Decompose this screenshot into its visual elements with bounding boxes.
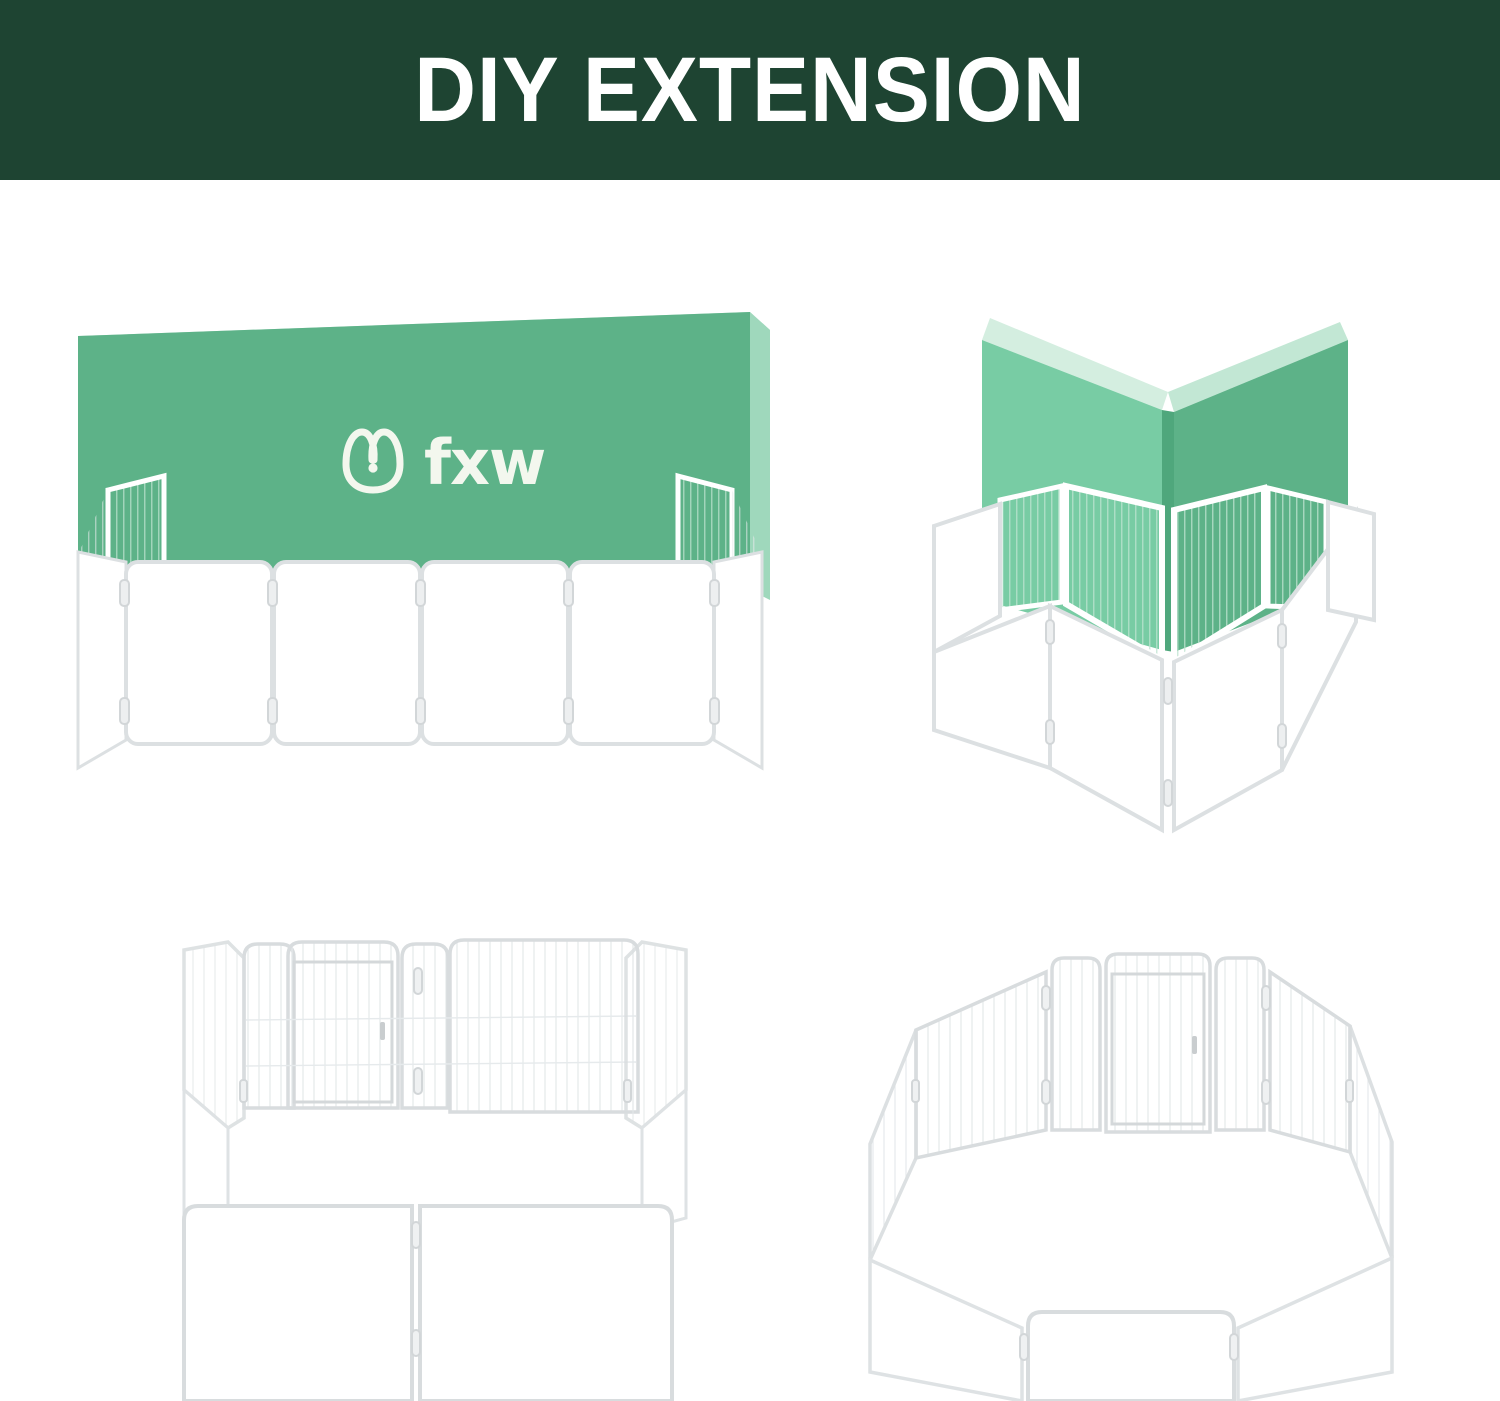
pen-front-panel-3 [422, 562, 568, 744]
straight-wall-illustration: fxw [60, 300, 780, 820]
pen-front-panel-right [420, 1206, 672, 1401]
header-banner: DIY EXTENSION [0, 0, 1500, 180]
pen-panel-front-centre [1028, 1312, 1234, 1401]
pen-front-panel-1 [126, 562, 272, 744]
dog-nose-icon [368, 463, 377, 472]
figure-octagonal-playpen [850, 930, 1410, 1401]
pen-front-panel-2 [274, 562, 420, 744]
pen-panel-front-left [870, 1260, 1022, 1401]
corner-wall-illustration [890, 300, 1410, 830]
page-title: DIY EXTENSION [414, 44, 1085, 136]
brand-logo-text: fxw [424, 426, 545, 499]
figure-rectangular-playpen [170, 930, 700, 1401]
pen-gate-latch-icon[interactable] [380, 1022, 385, 1040]
pen-front-panel-left [184, 1206, 412, 1401]
pen-back-panel-4 [450, 940, 638, 1112]
pen-gate-panel[interactable] [288, 942, 398, 1108]
brand-logo: fxw [346, 426, 545, 499]
pen-panel-back-centre-left [1052, 958, 1100, 1130]
pen-panel-back-right [1270, 972, 1350, 1152]
pen-front-panels [184, 1206, 672, 1401]
octagonal-playpen-illustration [850, 930, 1410, 1401]
figure-corner-wall-extension [890, 300, 1410, 830]
pen-panel-far-right [1328, 502, 1374, 620]
pen-panel-front-right [1238, 1258, 1392, 1401]
pen-panel-back-centre-right [1216, 958, 1264, 1130]
pen-gate-panel[interactable] [1106, 954, 1210, 1132]
pen-panel-right [1350, 1026, 1392, 1258]
pen-back-panel-3 [402, 944, 448, 1108]
pen-back-panels [244, 940, 638, 1112]
rectangular-playpen-illustration [170, 930, 700, 1401]
figure-straight-wall-extension: fxw [60, 300, 780, 820]
pen-panel-back-left [916, 972, 1046, 1158]
pen-gate-latch-icon[interactable] [1192, 1036, 1197, 1054]
pen-panel-left [870, 1030, 916, 1260]
pen-side-panel-left [78, 552, 126, 768]
pen-side-panel-right [714, 552, 762, 768]
pen-front-panel-4 [570, 562, 714, 744]
